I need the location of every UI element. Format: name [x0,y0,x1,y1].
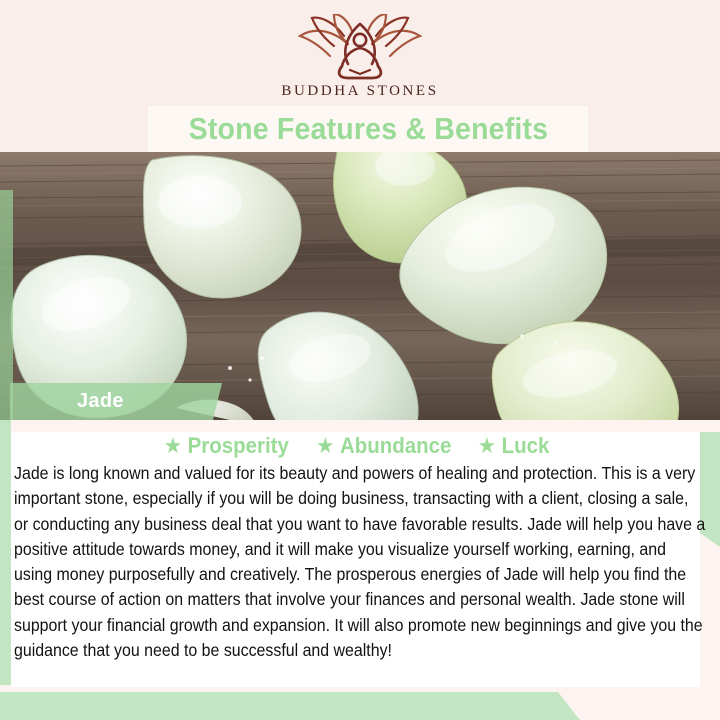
star-icon: ★ [164,435,182,457]
bottom-green-accent-band [0,692,580,720]
benefit-item-abundance: ★ Abundance [317,433,452,459]
benefit-label: Prosperity [188,433,289,459]
star-icon: ★ [478,435,496,457]
page-title: Stone Features & Benefits [188,111,548,147]
product-photo [0,152,720,420]
benefit-item-prosperity: ★ Prosperity [164,433,289,459]
stone-name-tag: Jade [10,383,222,420]
brand-wordmark: BUDDHA STONES [281,83,438,100]
stone-name-label: Jade [77,390,124,413]
section-title-banner: Stone Features & Benefits [148,106,588,152]
stone-description-text: Jade is long known and valued for its be… [14,461,706,663]
lotus-meditation-icon [290,14,430,80]
product-info-graphic: BUDDHA STONES Stone Features & Benefits [0,0,720,720]
benefit-item-luck: ★ Luck [478,433,550,459]
left-green-accent-strip [0,420,11,685]
benefits-row: ★ Prosperity ★ Abundance ★ Luck [11,430,700,462]
jade-stones-illustration [0,152,720,420]
benefit-label: Abundance [340,433,451,459]
brand-logo: BUDDHA STONES [0,14,720,100]
benefit-label: Luck [502,433,550,459]
star-icon: ★ [317,435,335,457]
